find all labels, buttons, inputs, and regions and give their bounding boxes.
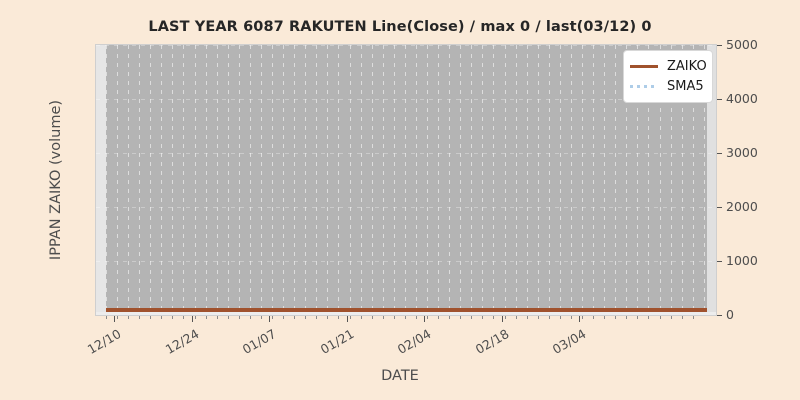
- x-axis-minor-tick: [671, 316, 672, 319]
- x-axis-minor-tick: [615, 316, 616, 319]
- axis-spine-right: [716, 45, 717, 316]
- x-axis-minor-tick: [338, 316, 339, 319]
- gridline-vertical: [139, 45, 140, 315]
- x-axis-minor-tick: [482, 316, 483, 319]
- gridline-vertical: [383, 45, 384, 315]
- x-axis-tick-label: 02/04: [372, 326, 433, 370]
- x-axis-minor-tick: [183, 316, 184, 319]
- legend-swatch-sma5-icon: [630, 80, 658, 92]
- gridline-vertical: [206, 45, 207, 315]
- x-axis-tick: [269, 316, 270, 322]
- x-axis-minor-tick: [427, 316, 428, 319]
- x-axis-minor-tick: [106, 316, 107, 319]
- chart-title: LAST YEAR 6087 RAKUTEN Line(Close) / max…: [0, 19, 800, 35]
- x-axis-tick-label: 01/07: [217, 326, 278, 370]
- gridline-vertical: [604, 45, 605, 315]
- y-axis-tick-label: 2000: [726, 201, 758, 214]
- x-axis-minor-tick: [637, 316, 638, 319]
- x-axis-minor-tick: [172, 316, 173, 319]
- x-axis-minor-tick: [394, 316, 395, 319]
- gridline-vertical: [538, 45, 539, 315]
- y-axis-tick-label: 5000: [726, 39, 758, 52]
- x-axis-minor-tick: [228, 316, 229, 319]
- gridline-vertical: [571, 45, 572, 315]
- x-axis-minor-tick: [449, 316, 450, 319]
- x-axis-minor-tick: [250, 316, 251, 319]
- legend-label-sma5: SMA5: [667, 79, 704, 94]
- y-axis-tick: [717, 99, 722, 100]
- x-axis-minor-tick: [272, 316, 273, 319]
- x-axis-label: DATE: [0, 368, 800, 384]
- x-axis-minor-tick: [604, 316, 605, 319]
- gridline-vertical: [449, 45, 450, 315]
- axis-spine-bottom: [95, 315, 717, 316]
- gridline-vertical: [161, 45, 162, 315]
- y-axis-tick-label: 0: [726, 309, 734, 322]
- gridline-vertical: [217, 45, 218, 315]
- gridline-vertical: [228, 45, 229, 315]
- gridline-vertical: [272, 45, 273, 315]
- x-axis-minor-tick: [316, 316, 317, 319]
- legend-item-zaiko[interactable]: ZAIKO: [630, 56, 706, 76]
- x-axis-minor-tick: [538, 316, 539, 319]
- x-axis-minor-tick: [660, 316, 661, 319]
- x-axis-minor-tick: [682, 316, 683, 319]
- x-axis-tick-label: 03/04: [527, 326, 588, 370]
- gridline-vertical: [438, 45, 439, 315]
- x-axis-minor-tick: [416, 316, 417, 319]
- x-axis-tick-label: 12/10: [62, 326, 123, 370]
- chart-legend[interactable]: ZAIKO SMA5: [623, 50, 713, 103]
- gridline-vertical: [372, 45, 373, 315]
- x-axis-minor-tick: [593, 316, 594, 319]
- gridline-horizontal: [96, 261, 716, 262]
- gridline-vertical: [405, 45, 406, 315]
- gridline-vertical: [172, 45, 173, 315]
- chart-figure: LAST YEAR 6087 RAKUTEN Line(Close) / max…: [0, 0, 800, 400]
- y-axis-tick: [717, 207, 722, 208]
- x-axis-minor-tick: [383, 316, 384, 319]
- x-axis-minor-tick: [549, 316, 550, 319]
- x-axis-minor-tick: [493, 316, 494, 319]
- gridline-vertical: [416, 45, 417, 315]
- gridline-vertical: [361, 45, 362, 315]
- gridline-vertical: [460, 45, 461, 315]
- gridline-vertical: [350, 45, 351, 315]
- gridline-vertical: [593, 45, 594, 315]
- x-axis-minor-tick: [128, 316, 129, 319]
- x-axis-minor-tick: [527, 316, 528, 319]
- axis-spine-left: [95, 45, 96, 316]
- x-axis-tick: [424, 316, 425, 322]
- gridline-vertical: [106, 45, 107, 315]
- x-axis-minor-tick: [150, 316, 151, 319]
- axis-spine-top: [95, 44, 717, 45]
- gridline-vertical: [117, 45, 118, 315]
- x-axis-minor-tick: [582, 316, 583, 319]
- x-axis-minor-tick: [471, 316, 472, 319]
- gridline-vertical: [305, 45, 306, 315]
- y-axis-label: IPPAN ZAIKO (volume): [48, 80, 64, 280]
- y-axis-tick-label: 1000: [726, 255, 758, 268]
- gridline-vertical: [394, 45, 395, 315]
- x-axis-minor-tick: [195, 316, 196, 319]
- gridline-vertical: [294, 45, 295, 315]
- x-axis-minor-tick: [438, 316, 439, 319]
- x-axis-tick: [347, 316, 348, 322]
- x-axis-minor-tick: [305, 316, 306, 319]
- x-axis-minor-tick: [693, 316, 694, 319]
- x-axis-minor-tick: [261, 316, 262, 319]
- x-axis-minor-tick: [571, 316, 572, 319]
- x-axis-minor-tick: [648, 316, 649, 319]
- x-axis-tick-label: 12/24: [140, 326, 201, 370]
- y-axis-tick: [717, 153, 722, 154]
- gridline-vertical: [316, 45, 317, 315]
- x-axis-minor-tick: [161, 316, 162, 319]
- y-axis-tick: [717, 45, 722, 46]
- gridline-horizontal: [96, 45, 716, 46]
- gridline-vertical: [582, 45, 583, 315]
- gridline-horizontal: [96, 153, 716, 154]
- legend-swatch-zaiko-icon: [630, 60, 658, 72]
- gridline-vertical: [471, 45, 472, 315]
- x-axis-tick-label: 02/18: [450, 326, 511, 370]
- gridline-vertical: [283, 45, 284, 315]
- y-axis-tick-label: 3000: [726, 147, 758, 160]
- x-axis-tick: [502, 316, 503, 322]
- x-axis-tick: [192, 316, 193, 322]
- gridline-vertical: [427, 45, 428, 315]
- gridline-vertical: [549, 45, 550, 315]
- gridline-vertical: [505, 45, 506, 315]
- x-axis-minor-tick: [361, 316, 362, 319]
- x-axis-minor-tick: [505, 316, 506, 319]
- x-axis-minor-tick: [239, 316, 240, 319]
- legend-item-sma5[interactable]: SMA5: [630, 76, 706, 96]
- gridline-vertical: [183, 45, 184, 315]
- x-axis-minor-tick: [294, 316, 295, 319]
- x-axis-tick: [114, 316, 115, 322]
- gridline-vertical: [261, 45, 262, 315]
- gridline-vertical: [482, 45, 483, 315]
- y-axis-tick-label: 4000: [726, 93, 758, 106]
- x-axis-tick-label: 01/21: [295, 326, 356, 370]
- gridline-vertical: [615, 45, 616, 315]
- y-axis-tick: [717, 261, 722, 262]
- y-axis-tick: [717, 315, 722, 316]
- x-axis-minor-tick: [139, 316, 140, 319]
- gridline-vertical: [150, 45, 151, 315]
- gridline-vertical: [493, 45, 494, 315]
- x-axis-minor-tick: [117, 316, 118, 319]
- x-axis-minor-tick: [283, 316, 284, 319]
- x-axis-minor-tick: [372, 316, 373, 319]
- gridline-vertical: [250, 45, 251, 315]
- x-axis-minor-tick: [516, 316, 517, 319]
- gridline-vertical: [195, 45, 196, 315]
- gridline-vertical: [527, 45, 528, 315]
- x-axis-minor-tick: [405, 316, 406, 319]
- gridline-vertical: [128, 45, 129, 315]
- gridline-vertical: [338, 45, 339, 315]
- series-line-zaiko: [106, 308, 707, 312]
- gridline-vertical: [516, 45, 517, 315]
- gridline-horizontal: [96, 207, 716, 208]
- x-axis-tick: [579, 316, 580, 322]
- gridline-vertical: [239, 45, 240, 315]
- x-axis-minor-tick: [626, 316, 627, 319]
- x-axis-minor-tick: [460, 316, 461, 319]
- x-axis-minor-tick: [327, 316, 328, 319]
- gridline-vertical: [327, 45, 328, 315]
- x-axis-minor-tick: [206, 316, 207, 319]
- x-axis-minor-tick: [350, 316, 351, 319]
- x-axis-minor-tick: [560, 316, 561, 319]
- gridline-vertical: [560, 45, 561, 315]
- legend-label-zaiko: ZAIKO: [667, 59, 707, 74]
- x-axis-minor-tick: [217, 316, 218, 319]
